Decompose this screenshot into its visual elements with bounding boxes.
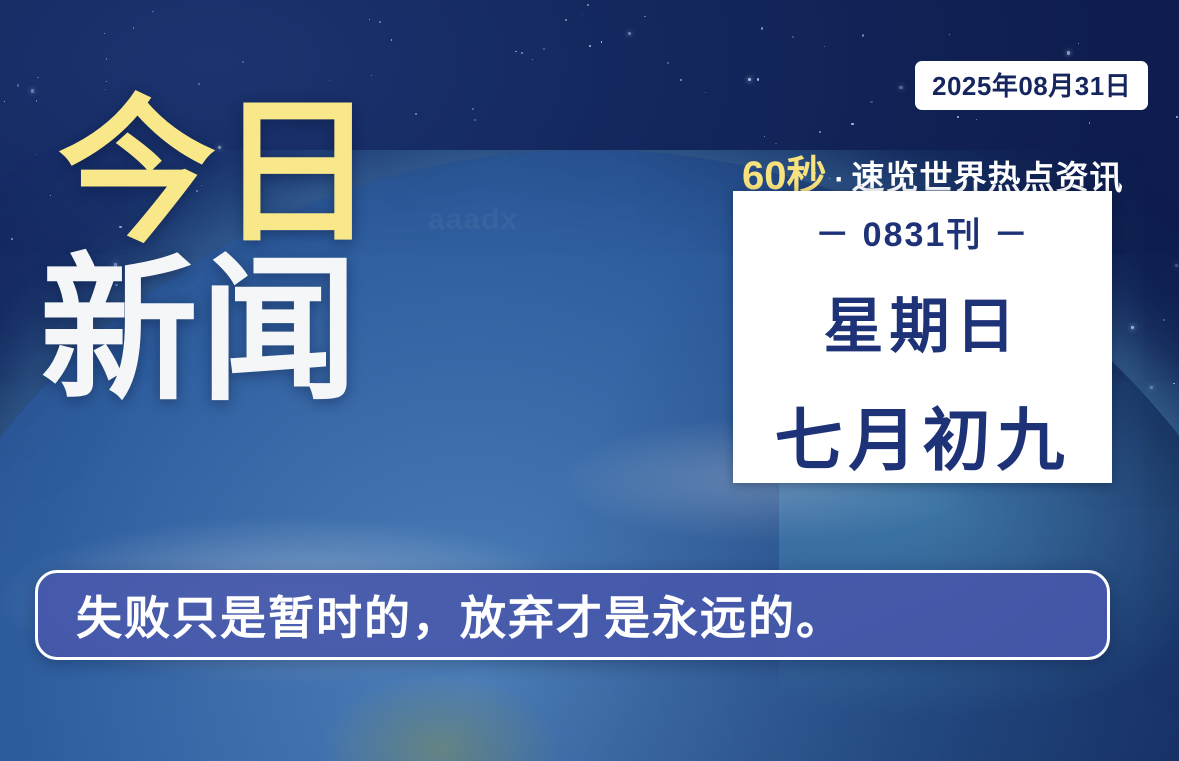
watermark-text: aaadx (428, 203, 518, 237)
news-poster: aaadx 今日 新闻 2025年08月31日 60秒 · 速览世界热点资讯 －… (0, 0, 1179, 761)
lunar-date-label: 七月初九 (774, 385, 1070, 484)
quote-text: 失败只是暂时的，放弃才是永远的。 (76, 582, 844, 648)
issue-number: － 0831刊 － (815, 207, 1030, 256)
quote-banner: 失败只是暂时的，放弃才是永远的。 (35, 570, 1110, 660)
info-card: － 0831刊 － 星期日 七月初九 (733, 191, 1112, 483)
date-badge: 2025年08月31日 (915, 61, 1148, 110)
page-title: 今日 新闻 (58, 98, 378, 407)
page-title-line-2: 新闻 (40, 256, 378, 408)
page-title-line-1: 今日 (58, 98, 378, 250)
weekday-label: 星期日 (824, 278, 1022, 365)
